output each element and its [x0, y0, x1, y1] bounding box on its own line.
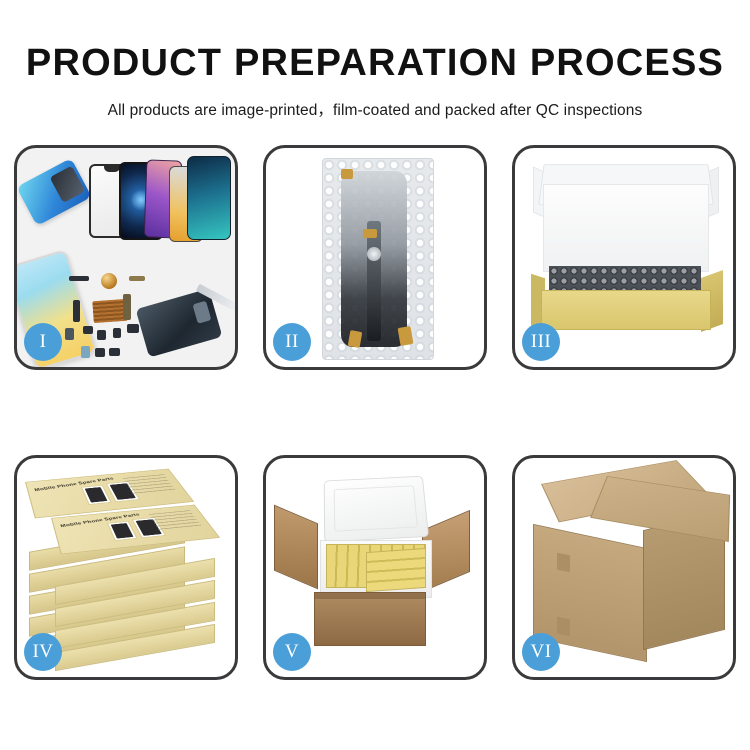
spare-part-icon	[109, 348, 120, 356]
blue-phone-icon	[17, 158, 92, 226]
page-header: PRODUCT PREPARATION PROCESS All products…	[0, 0, 750, 119]
process-step-panel-1[interactable]: I	[14, 145, 238, 370]
step-badge-3: III	[522, 323, 560, 361]
product-preparation-process-page: PRODUCT PREPARATION PROCESS All products…	[0, 0, 750, 750]
process-step-panel-3[interactable]: III	[512, 145, 736, 370]
speaker-chip-icon	[101, 273, 117, 289]
flex-cable-icon	[367, 221, 381, 341]
process-step-panel-6[interactable]: VI	[512, 455, 736, 680]
spare-part-icon	[83, 326, 93, 334]
bubble-wrap-bag-icon	[322, 158, 434, 360]
spare-part-icon	[65, 328, 74, 340]
box-spec-lines-icon	[123, 474, 177, 496]
spare-part-icon	[113, 328, 121, 338]
box-front-icon	[541, 290, 711, 330]
step-badge-6: VI	[522, 633, 560, 671]
spare-part-icon	[97, 330, 106, 340]
process-step-panel-5[interactable]: V	[263, 455, 487, 680]
box-window-icon	[107, 521, 138, 541]
yellow-boxes-icon	[366, 548, 426, 592]
spare-part-icon	[95, 348, 105, 357]
step-badge-4: IV	[24, 633, 62, 671]
page-subtitle: All products are image-printed，film-coat…	[0, 82, 750, 119]
process-step-grid: I II	[14, 145, 736, 680]
spare-part-icon	[127, 324, 139, 333]
carton-tape-icon	[557, 553, 570, 573]
tape-tab-icon	[363, 229, 377, 238]
foam-lid-icon	[324, 476, 429, 543]
box-spec-lines-icon	[149, 510, 203, 532]
process-step-panel-2[interactable]: II	[263, 145, 487, 370]
tape-tab-icon	[341, 169, 353, 179]
spare-part-icon	[81, 346, 90, 358]
box-window-icon	[81, 485, 112, 505]
spare-part-icon	[73, 300, 80, 322]
camera-lens-icon	[367, 247, 381, 261]
phone-back-cover-icon	[136, 288, 223, 357]
step-badge-2: II	[273, 323, 311, 361]
tape-tab-icon	[398, 326, 414, 346]
carton-tape-icon	[557, 617, 570, 637]
foam-sheet-icon	[543, 184, 709, 272]
spare-part-icon	[129, 276, 145, 281]
step-badge-5: V	[273, 633, 311, 671]
page-title: PRODUCT PREPARATION PROCESS	[0, 0, 750, 82]
step-badge-1: I	[24, 323, 62, 361]
process-step-panel-4[interactable]: Mobile Phone Spare Parts Mobile Phone Sp…	[14, 455, 238, 680]
teal-phone-icon	[187, 156, 231, 240]
spare-part-icon	[123, 294, 131, 320]
spare-part-icon	[69, 276, 89, 281]
carton-front-icon	[314, 592, 426, 646]
carton-flap-left-icon	[274, 505, 318, 590]
